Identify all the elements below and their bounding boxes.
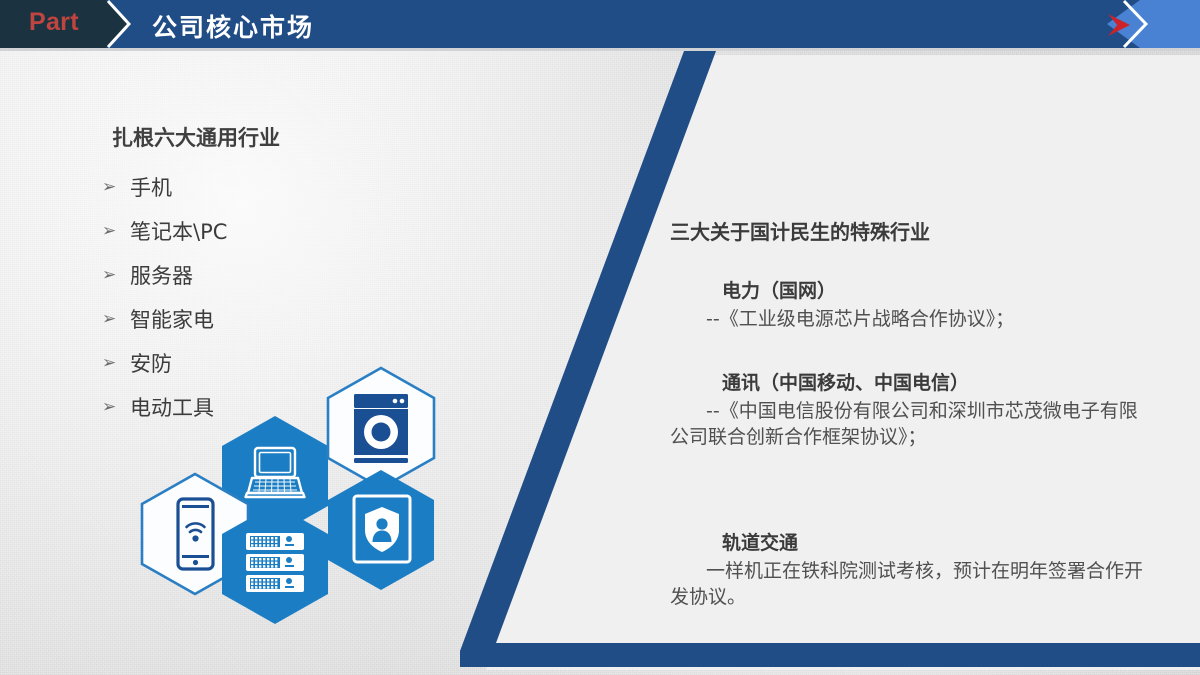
list-item-label: 服务器: [130, 260, 193, 290]
header-underline: [0, 48, 1200, 51]
industry-block-rail: 轨道交通 一样机正在铁科院测试考核，预计在明年签署合作开发协议。: [670, 528, 1148, 610]
block-body: 一样机正在铁科院测试考核，预计在明年签署合作开发协议。: [670, 558, 1148, 610]
arrow-bullet-icon: ➢: [102, 179, 130, 196]
block-subheading: 轨道交通: [722, 528, 1148, 555]
left-panel-heading: 扎根六大通用行业: [112, 122, 280, 152]
right-content-area: 三大关于国计民生的特殊行业 电力（国网） --《工业级电源芯片战略合作协议》； …: [670, 55, 1170, 670]
industry-block-power: 电力（国网） --《工业级电源芯片战略合作协议》；: [670, 276, 1148, 332]
washing-machine-icon: [354, 394, 408, 463]
slide-canvas: Part 公司核心市场 扎根六大通用行业 ➢ 手机 ➢ 笔记本\PC ➢ 服务器…: [0, 0, 1200, 675]
list-item: ➢ 手机: [102, 165, 432, 209]
right-panel-heading: 三大关于国计民生的特殊行业: [670, 216, 930, 245]
block-subheading: 通讯（中国移动、中国电信）: [722, 368, 1148, 395]
arrow-bullet-icon: ➢: [102, 311, 130, 328]
arrow-bullet-icon: ➢: [102, 223, 130, 240]
part-label: Part: [29, 8, 79, 37]
list-item: ➢ 笔记本\PC: [102, 209, 432, 253]
list-item-label: 手机: [130, 172, 172, 202]
slide-header: Part 公司核心市场: [0, 0, 1200, 48]
list-item-label: 笔记本\PC: [130, 216, 227, 246]
list-item: ➢ 服务器: [102, 253, 432, 297]
block-body: --《工业级电源芯片战略合作协议》；: [670, 306, 1148, 332]
hexagon-security: [328, 470, 434, 590]
block-body: --《中国电信股份有限公司和深圳市芯茂微电子有限公司联合创新合作框架协议》；: [670, 398, 1148, 450]
header-part-chevron-icon: [100, 0, 136, 48]
list-item-label: 智能家电: [130, 304, 214, 334]
arrow-bullet-icon: ➢: [102, 399, 130, 416]
block-subheading: 电力（国网）: [722, 276, 1148, 303]
industry-block-telecom: 通讯（中国移动、中国电信） --《中国电信股份有限公司和深圳市芯茂微电子有限公司…: [670, 368, 1148, 450]
arrow-bullet-icon: ➢: [102, 355, 130, 372]
arrow-bullet-icon: ➢: [102, 267, 130, 284]
page-title: 公司核心市场: [152, 8, 314, 44]
server-rack-icon: [246, 533, 304, 592]
industry-hexagon-cluster: [140, 360, 460, 625]
list-item: ➢ 智能家电: [102, 297, 432, 341]
header-right-chevron-icon: [1104, 0, 1150, 48]
